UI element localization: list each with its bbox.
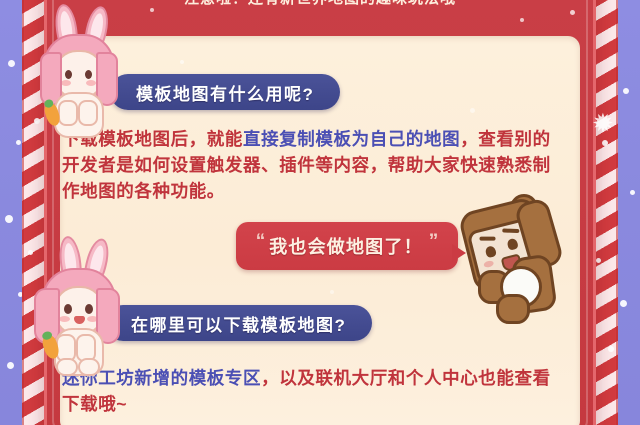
- answer-2-paragraph: 迷你工坊新增的模板专区，以及联机大厅和个人中心也能查看下载哦~: [62, 365, 567, 417]
- rabbit-foot-left: [56, 358, 78, 376]
- rabbit-eye-left: [65, 70, 72, 79]
- snow-dot: [520, 18, 524, 22]
- snow-dot: [602, 140, 608, 146]
- snow-dot: [596, 258, 601, 263]
- rabbit-eye-left: [64, 304, 72, 314]
- snow-dot: [8, 60, 15, 67]
- bear-cheek-left: [483, 260, 494, 268]
- speech-bubble: “ 我也会做地图了！ ”: [236, 222, 458, 270]
- snow-dot: [623, 88, 629, 94]
- rabbit-cheek-left: [61, 80, 71, 86]
- question-1-text: 模板地图有什么用呢?: [136, 80, 314, 105]
- brown-bear: [462, 194, 578, 320]
- snow-dot: [16, 140, 21, 145]
- snow-dot: [7, 362, 14, 369]
- promo-graphic: 注意啦！还有新世界地图的趣味玩法哦 模板地图有什么用呢? 下载模板地图后，就能直…: [0, 0, 640, 425]
- question-2-text: 在哪里可以下载模板地图?: [131, 311, 346, 336]
- rabbit-hand-right: [78, 100, 98, 126]
- rabbit-eye-right: [85, 304, 93, 314]
- question-1-banner[interactable]: 模板地图有什么用呢?: [110, 74, 340, 110]
- bear-eye-right: [506, 238, 518, 251]
- top-headline: 注意啦！还有新世界地图的趣味玩法哦: [60, 0, 580, 7]
- snow-dot: [608, 346, 614, 352]
- answer-1-run-1: 直接复制模板为自己的地图: [243, 129, 460, 149]
- rabbit-cheek-left: [59, 316, 70, 322]
- rabbit-hand-left: [58, 100, 78, 126]
- snow-dot: [5, 215, 13, 223]
- bear-eye-left: [485, 245, 497, 258]
- question-2-banner[interactable]: 在哪里可以下载模板地图?: [105, 305, 372, 341]
- bear-brow-left: [480, 237, 496, 241]
- snow-dot: [570, 10, 575, 15]
- rabbit-eye-right: [85, 70, 92, 79]
- snow-dot: [630, 190, 635, 195]
- pink-rabbit-bottom: [22, 236, 122, 376]
- panel-sparkle: [180, 60, 184, 64]
- answer-1-paragraph: 下载模板地图后，就能直接复制模板为自己的地图，查看别的开发者是如何设置触发器、插…: [62, 126, 562, 204]
- rabbit-foot-right: [78, 358, 100, 376]
- bear-brow-right: [502, 228, 519, 233]
- pink-rabbit-top: [30, 4, 126, 136]
- snow-dot: [620, 300, 627, 307]
- snow-dot: [150, 8, 154, 12]
- rabbit-cheek-right: [86, 80, 96, 86]
- open-quote-mark: “: [256, 232, 266, 251]
- snowflake-icon: ✹: [592, 110, 614, 136]
- close-quote-mark: ”: [429, 232, 439, 251]
- panel-sparkle: [330, 290, 334, 294]
- speech-bubble-text: 我也会做地图了！: [269, 233, 423, 259]
- carrot-leaf: [41, 330, 53, 341]
- bear-foot: [496, 294, 530, 324]
- panel-sparkle: [470, 108, 475, 113]
- rabbit-mouth: [74, 316, 85, 324]
